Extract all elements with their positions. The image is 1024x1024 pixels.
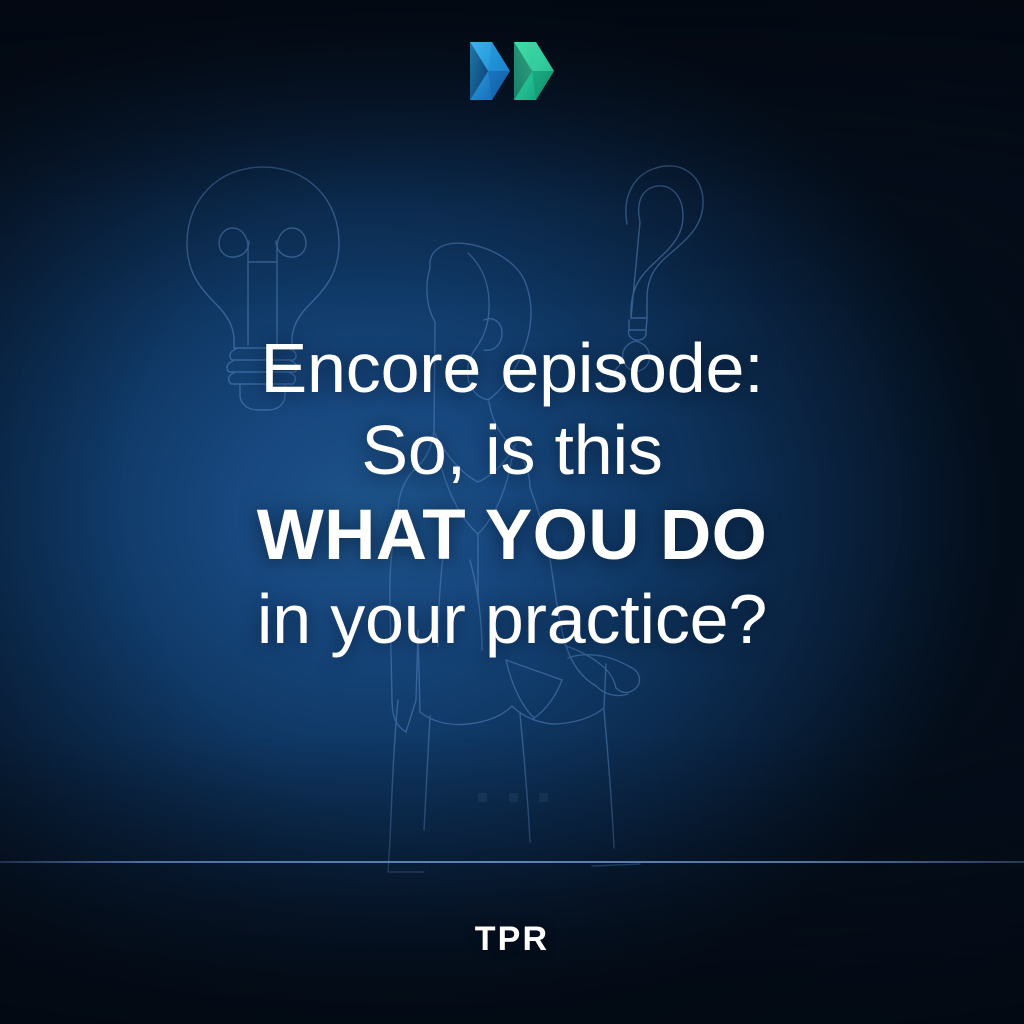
title-line-1: Encore episode: (0, 330, 1024, 412)
episode-title: Encore episode: So, is this WHAT YOU DO … (0, 330, 1024, 663)
episode-cover-canvas: Encore episode: So, is this WHAT YOU DO … (0, 0, 1024, 1024)
title-line-3-emphasis: WHAT YOU DO (0, 494, 1024, 581)
dot-1 (478, 793, 487, 802)
dot-2 (509, 793, 518, 802)
double-chevron-logo[interactable] (462, 36, 562, 106)
title-line-4: in your practice? (0, 581, 1024, 663)
title-line-2: So, is this (0, 412, 1024, 494)
dot-3 (539, 793, 548, 802)
chevron-left-icon (470, 42, 510, 100)
decorative-dots (478, 793, 548, 802)
ground-line (0, 861, 1024, 863)
tpr-wordmark[interactable]: TPR (0, 920, 1024, 959)
chevron-right-icon (514, 42, 554, 100)
